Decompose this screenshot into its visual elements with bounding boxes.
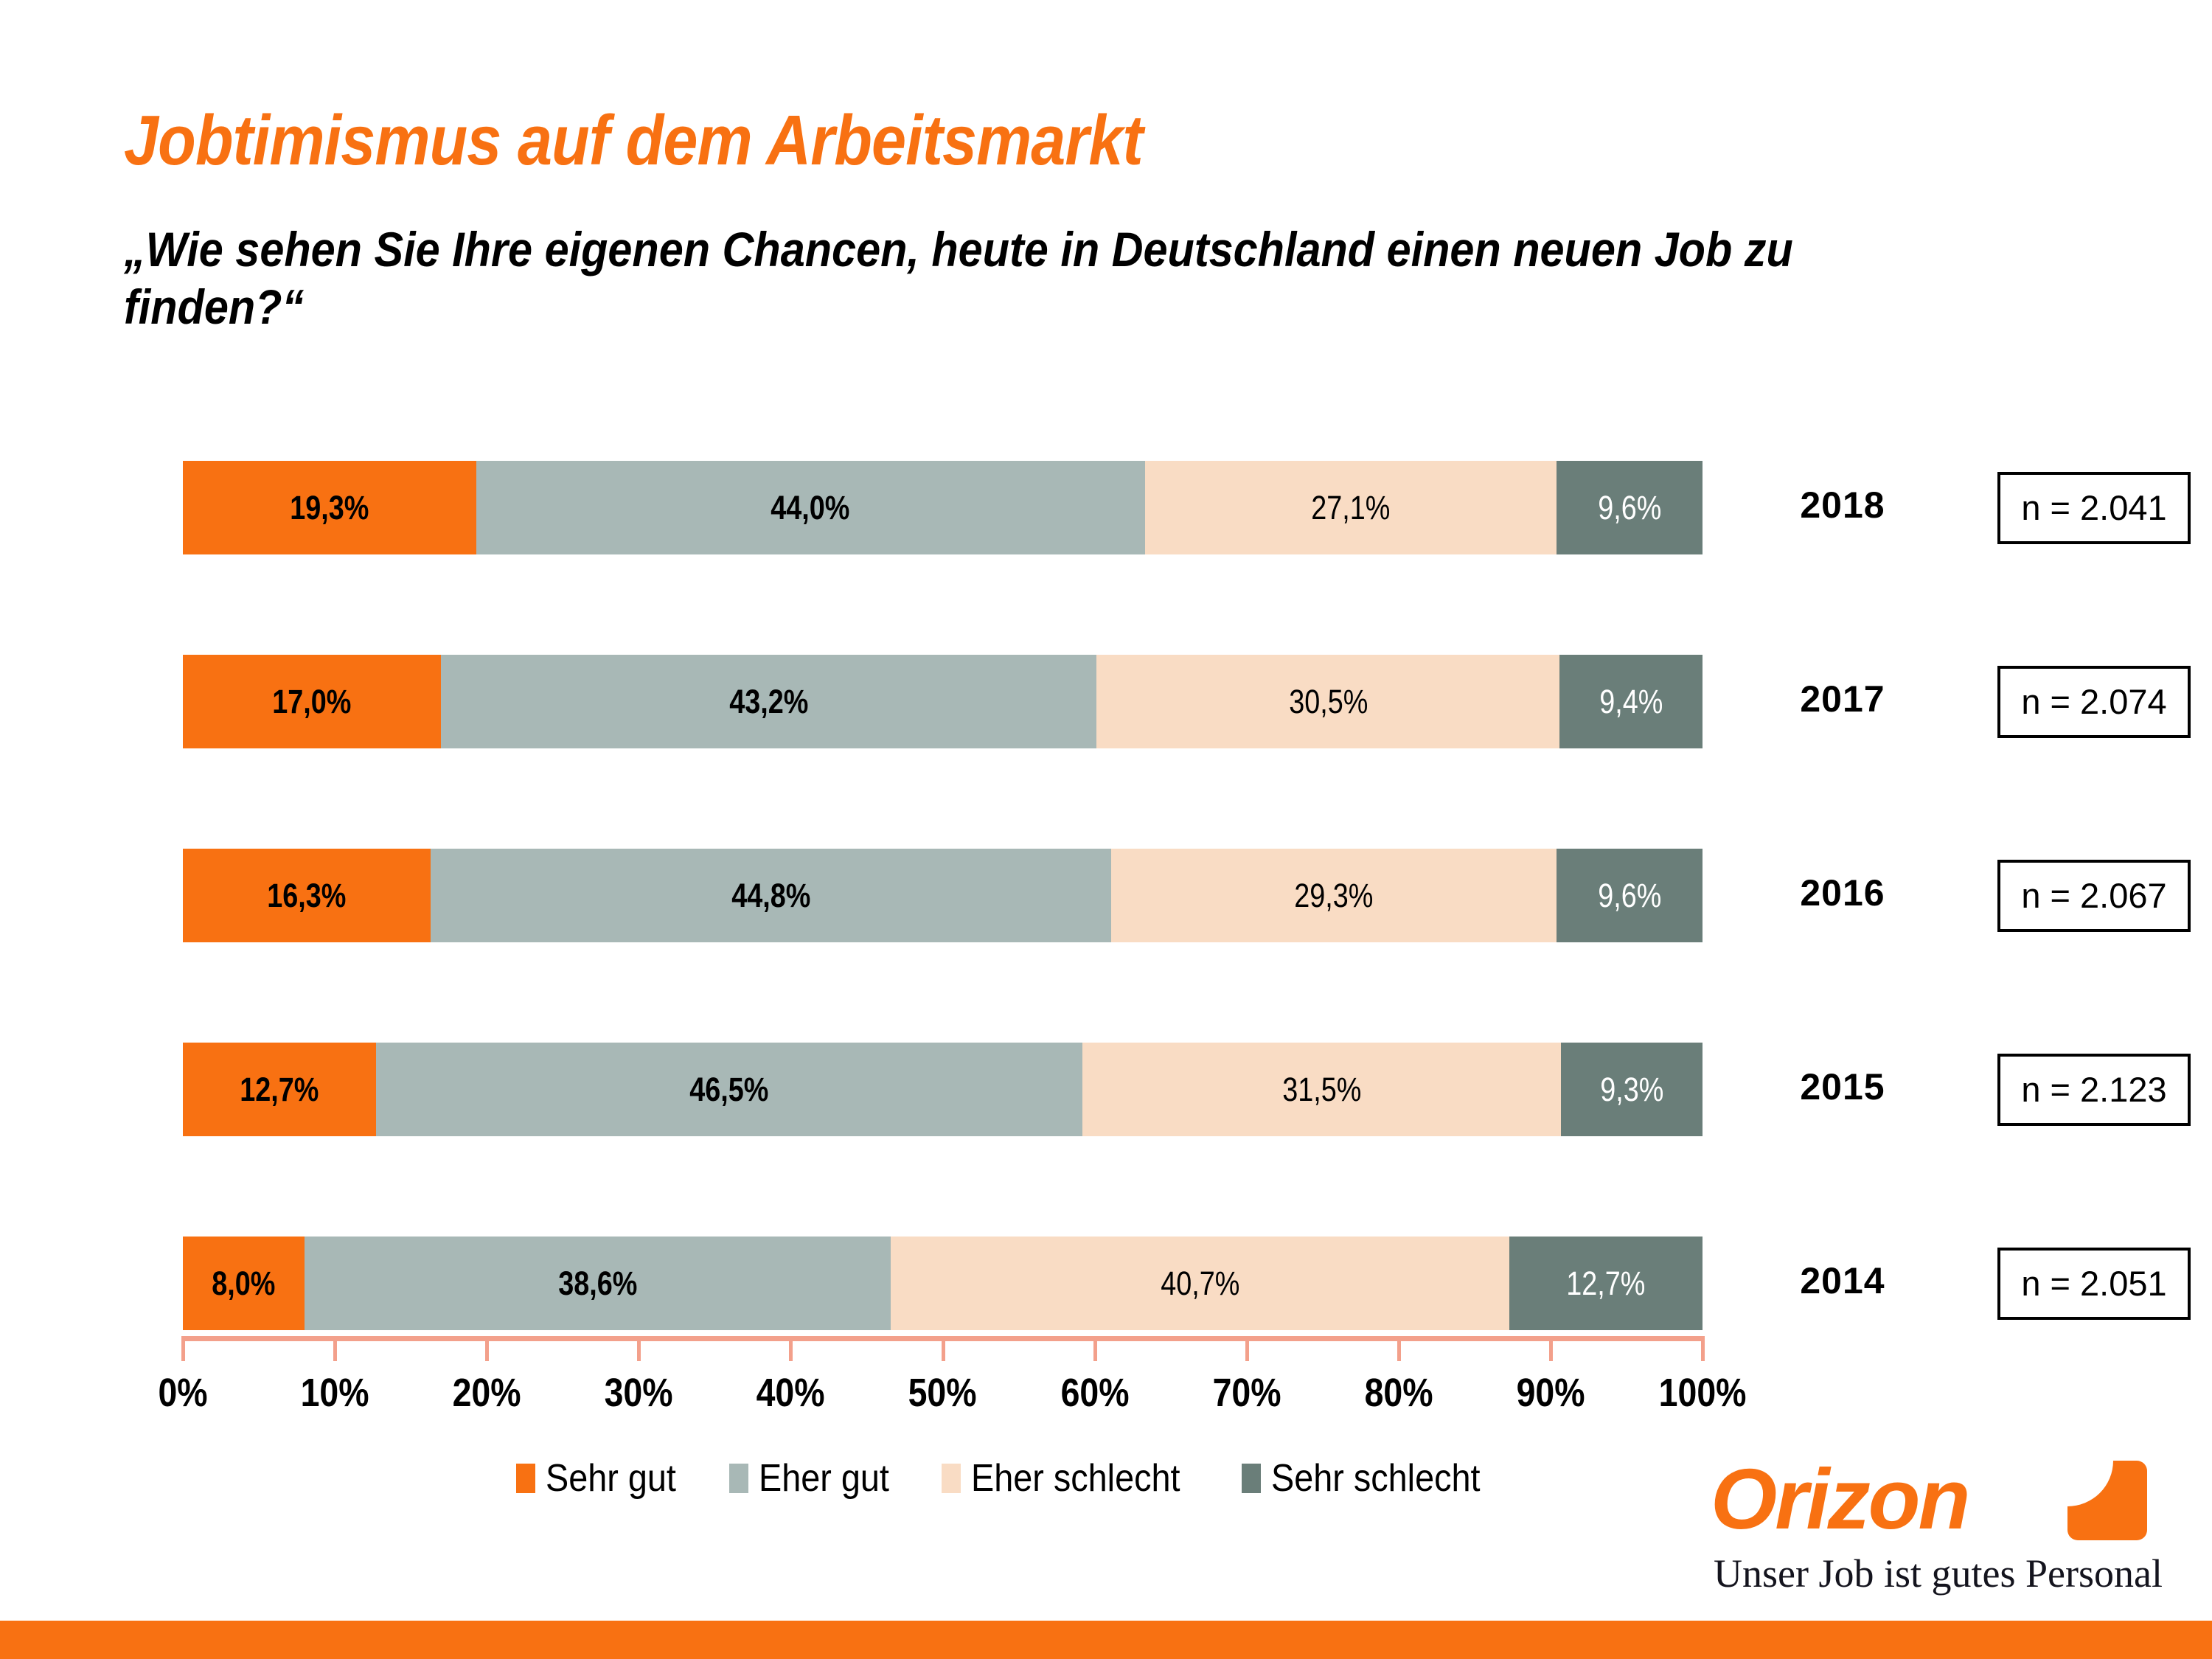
- bar-segment-value: 43,2%: [729, 683, 808, 721]
- x-axis-tick: [1549, 1336, 1553, 1361]
- slide-canvas: Jobtimismus auf dem Arbeitsmarkt „Wie se…: [0, 0, 2212, 1659]
- bar-segment: 31,5%: [1082, 1043, 1561, 1136]
- bar-segment: 9,6%: [1557, 849, 1703, 942]
- bar-segment-value: 44,0%: [771, 489, 850, 527]
- tick-label-text: 70%: [1212, 1370, 1281, 1416]
- x-axis-tick: [1701, 1336, 1705, 1361]
- bar-segment-value: 31,5%: [1282, 1071, 1361, 1109]
- bar-segment: 17,0%: [183, 655, 441, 748]
- sample-size-box: n = 2.051: [1997, 1248, 2191, 1320]
- bar-segment: 30,5%: [1096, 655, 1559, 748]
- x-axis-tick: [1093, 1336, 1097, 1361]
- bar-segment: 29,3%: [1111, 849, 1557, 942]
- x-axis-tick-label: 50%: [877, 1370, 1009, 1416]
- tick-label-text: 10%: [301, 1370, 369, 1416]
- chart-legend: Sehr gutEher gutEher schlechtSehr schlec…: [516, 1456, 1503, 1500]
- year-label: 2016: [1761, 872, 1924, 914]
- tick-label-text: 20%: [453, 1370, 521, 1416]
- x-axis-tick: [942, 1336, 945, 1361]
- bar-row: 17,0%43,2%30,5%9,4%: [183, 655, 1703, 748]
- legend-label: Sehr gut: [546, 1456, 691, 1500]
- bar-segment: 46,5%: [376, 1043, 1082, 1136]
- sample-size-box: n = 2.041: [1997, 472, 2191, 544]
- year-label: 2014: [1761, 1259, 1924, 1302]
- tick-label-text: 80%: [1364, 1370, 1433, 1416]
- bar-segment: 8,0%: [183, 1237, 305, 1330]
- bar-segment: 43,2%: [441, 655, 1096, 748]
- tick-label-text: 100%: [1659, 1370, 1747, 1416]
- bar-segment-value: 9,4%: [1599, 683, 1663, 721]
- year-label: 2018: [1761, 484, 1924, 526]
- bar-row: 16,3%44,8%29,3%9,6%: [183, 849, 1703, 942]
- x-axis-tick-label: 100%: [1636, 1370, 1769, 1416]
- x-axis-tick: [789, 1336, 793, 1361]
- x-axis-tick-label: 70%: [1180, 1370, 1313, 1416]
- sample-size-box: n = 2.123: [1997, 1054, 2191, 1126]
- tick-label-text: 30%: [605, 1370, 673, 1416]
- x-axis-tick-label: 10%: [268, 1370, 401, 1416]
- x-axis-tick-label: 90%: [1484, 1370, 1617, 1416]
- tick-label-text: 90%: [1516, 1370, 1585, 1416]
- bar-segment: 40,7%: [891, 1237, 1509, 1330]
- bar-segment-value: 40,7%: [1161, 1265, 1239, 1303]
- x-axis-tick: [485, 1336, 489, 1361]
- orizon-logo: Orizon Unser Job ist gutes Personal: [1711, 1456, 2153, 1542]
- legend-label: Eher gut: [759, 1456, 904, 1500]
- tick-label-text: 50%: [908, 1370, 977, 1416]
- stacked-bar-chart: 19,3%44,0%27,1%9,6%17,0%43,2%30,5%9,4%16…: [183, 442, 1703, 1342]
- logo-mark-icon: [2067, 1461, 2147, 1540]
- bar-segment-value: 19,3%: [290, 489, 369, 527]
- bar-segment-value: 29,3%: [1295, 877, 1374, 915]
- bar-segment-value: 12,7%: [240, 1071, 319, 1109]
- x-axis-tick-label: 80%: [1332, 1370, 1465, 1416]
- bar-segment: 27,1%: [1145, 461, 1557, 554]
- legend-item[interactable]: Eher schlecht: [942, 1456, 1203, 1500]
- x-axis-tick-label: 30%: [572, 1370, 705, 1416]
- bar-segment: 16,3%: [183, 849, 431, 942]
- legend-label: Sehr schlecht: [1271, 1456, 1503, 1500]
- sample-size-box: n = 2.074: [1997, 666, 2191, 738]
- x-axis-tick: [1245, 1336, 1249, 1361]
- bar-segment: 12,7%: [183, 1043, 376, 1136]
- page-subtitle: „Wie sehen Sie Ihre eigenen Chancen, heu…: [124, 221, 1929, 336]
- bar-segment: 44,8%: [431, 849, 1111, 942]
- sample-size-box: n = 2.067: [1997, 860, 2191, 932]
- legend-swatch-icon: [1242, 1464, 1261, 1493]
- bar-row: 8,0%38,6%40,7%12,7%: [183, 1237, 1703, 1330]
- x-axis-tick: [1397, 1336, 1401, 1361]
- bar-segment: 44,0%: [476, 461, 1145, 554]
- bar-segment: 9,4%: [1559, 655, 1703, 748]
- x-axis-tick-label: 60%: [1029, 1370, 1161, 1416]
- legend-swatch-icon: [729, 1464, 748, 1493]
- x-axis-tick: [181, 1336, 185, 1361]
- bar-segment: 19,3%: [183, 461, 476, 554]
- year-label: 2015: [1761, 1065, 1924, 1108]
- bar-segment-value: 9,3%: [1600, 1071, 1663, 1109]
- bar-row: 19,3%44,0%27,1%9,6%: [183, 461, 1703, 554]
- logo-wordmark: Orizon: [1711, 1456, 1968, 1542]
- bar-segment-value: 17,0%: [272, 683, 351, 721]
- bar-segment: 9,6%: [1557, 461, 1703, 554]
- legend-item[interactable]: Sehr schlecht: [1242, 1456, 1503, 1500]
- logo-tagline: Unser Job ist gutes Personal: [1714, 1551, 2163, 1596]
- bar-segment-value: 12,7%: [1566, 1265, 1645, 1303]
- year-label: 2017: [1761, 678, 1924, 720]
- x-axis-tick-label: 40%: [724, 1370, 857, 1416]
- legend-swatch-icon: [516, 1464, 535, 1493]
- legend-label: Eher schlecht: [971, 1456, 1203, 1500]
- bar-segment-value: 27,1%: [1311, 489, 1390, 527]
- legend-item[interactable]: Sehr gut: [516, 1456, 691, 1500]
- bar-segment-value: 46,5%: [689, 1071, 768, 1109]
- bar-segment: 9,3%: [1561, 1043, 1703, 1136]
- bar-segment-value: 16,3%: [267, 877, 346, 915]
- x-axis-tick: [637, 1336, 641, 1361]
- legend-item[interactable]: Eher gut: [729, 1456, 904, 1500]
- footer-band: [0, 1621, 2212, 1659]
- bar-segment-value: 38,6%: [558, 1265, 637, 1303]
- bar-segment-value: 8,0%: [212, 1265, 275, 1303]
- tick-label-text: 0%: [158, 1370, 207, 1416]
- bar-row: 12,7%46,5%31,5%9,3%: [183, 1043, 1703, 1136]
- legend-swatch-icon: [942, 1464, 961, 1493]
- x-axis-tick: [333, 1336, 337, 1361]
- bar-segment-value: 9,6%: [1598, 877, 1661, 915]
- bar-segment: 38,6%: [305, 1237, 891, 1330]
- x-axis-tick-label: 20%: [420, 1370, 553, 1416]
- page-title: Jobtimismus auf dem Arbeitsmarkt: [124, 100, 1143, 181]
- bar-segment-value: 30,5%: [1289, 683, 1368, 721]
- tick-label-text: 40%: [757, 1370, 825, 1416]
- tick-label-text: 60%: [1060, 1370, 1129, 1416]
- bar-segment-value: 44,8%: [731, 877, 810, 915]
- x-axis-tick-label: 0%: [116, 1370, 249, 1416]
- bar-segment-value: 9,6%: [1598, 489, 1661, 527]
- bar-segment: 12,7%: [1509, 1237, 1703, 1330]
